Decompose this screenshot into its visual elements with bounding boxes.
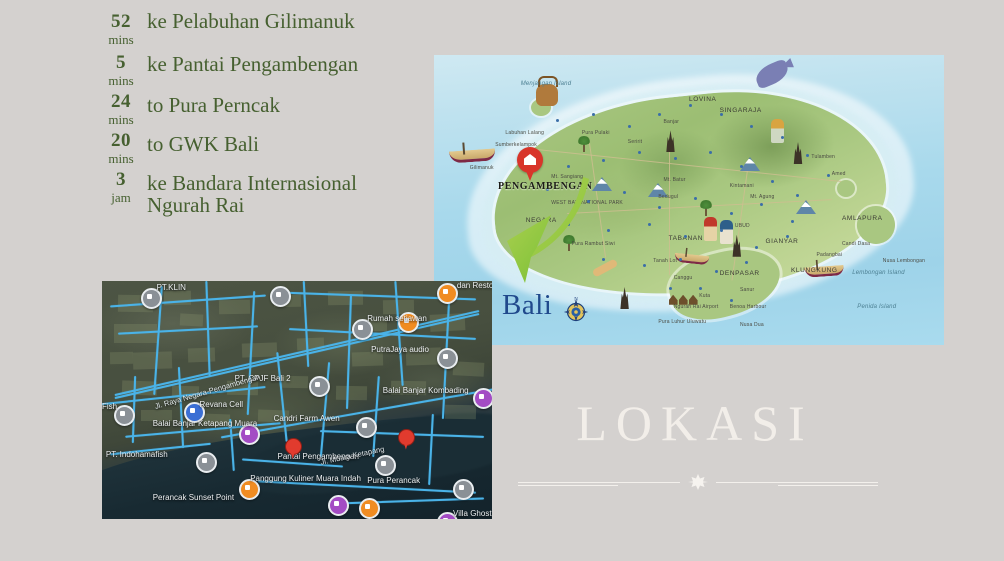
poi-label: Rumah setiawan — [367, 314, 427, 323]
bali-place-label: GIANYAR — [766, 238, 799, 245]
destination-label: to GWK Bali — [147, 130, 259, 155]
map-dot — [745, 261, 748, 264]
poi-label: PutraJaya audio — [371, 345, 429, 354]
duration-unit: mins — [95, 152, 147, 165]
bali-place-label: Seririt — [628, 139, 642, 145]
duration: 5 mins — [95, 50, 147, 87]
village-huts-icon — [669, 293, 699, 305]
bali-place-label: Pura Luhur Uluwatu — [658, 319, 706, 325]
map-dot — [628, 125, 631, 128]
bali-place-label: Bedugul — [658, 194, 678, 200]
list-item: 20 mins to GWK Bali — [95, 130, 425, 165]
bali-place-label: UBUD — [735, 223, 750, 229]
map-dot — [679, 258, 682, 261]
duration-value: 5 — [95, 53, 147, 72]
poi-label: Pura Perancak — [367, 476, 420, 485]
bali-place-label: Tanah Lot — [653, 258, 677, 264]
duration-value: 20 — [95, 131, 147, 150]
map-dot — [715, 270, 718, 273]
poi-label: PT.KLIN — [157, 283, 186, 292]
map-dot — [643, 264, 646, 267]
poi-marker[interactable] — [437, 348, 458, 369]
page-title: LOKASI — [565, 398, 825, 448]
map-dot — [786, 235, 789, 238]
palm-tree-icon — [577, 136, 591, 152]
bali-place-label: Gilimanuk — [470, 165, 494, 171]
bali-place-label: AMLAPURA — [842, 215, 883, 222]
destination-label: ke Pantai Pengambengan — [147, 50, 358, 75]
mountain-icon — [592, 177, 612, 191]
road-line — [669, 142, 670, 275]
bali-place-label: DENPASAR — [720, 270, 760, 277]
map-dot — [730, 299, 733, 302]
red-map-pin[interactable] — [398, 429, 413, 450]
poi-marker[interactable] — [270, 286, 291, 307]
field-parcel — [180, 314, 204, 327]
bali-place-label: Mt. Agung — [750, 194, 774, 200]
compass-rose-icon: N — [561, 295, 591, 325]
map-dot — [638, 151, 641, 154]
mountain-icon — [796, 200, 816, 214]
map-dot — [720, 113, 723, 116]
duration-unit: mins — [95, 33, 147, 46]
balinese-figure-icon — [704, 217, 717, 241]
divider-line-right — [716, 482, 878, 483]
duration-value: 52 — [95, 12, 147, 31]
palm-tree-icon — [699, 200, 713, 216]
bali-place-label: Labuhan Lalang — [505, 130, 544, 136]
duration: 24 mins — [95, 91, 147, 126]
poi-label: PT. Indohamafish — [106, 450, 168, 459]
map-dot — [669, 287, 672, 290]
bali-place-label: Candi Dasa — [842, 241, 870, 247]
title-divider — [518, 473, 878, 491]
satellite-map[interactable]: PT.KLINdan Resto AwRumah setiawanPutraJa… — [102, 281, 492, 519]
map-dot — [730, 212, 733, 215]
poi-label: Revana Cell — [200, 400, 244, 409]
distance-list: 52 mins ke Pelabuhan Gilimanuk 5 mins ke… — [95, 10, 425, 221]
bali-place-label: Menjangan Island — [521, 81, 572, 87]
map-dot — [720, 229, 723, 232]
bali-place-label: Penida Island — [857, 304, 896, 310]
poi-marker[interactable] — [375, 455, 396, 476]
map-dot — [781, 136, 784, 139]
field-parcel — [453, 361, 485, 377]
field-parcel — [219, 300, 250, 315]
mountain-icon — [740, 157, 760, 171]
deer-icon — [536, 84, 558, 106]
field-parcel — [242, 342, 278, 357]
bali-place-label: Padangbai — [817, 252, 843, 258]
duration-unit: mins — [95, 113, 147, 126]
duration: 52 mins — [95, 10, 147, 46]
balinese-figure-icon — [771, 119, 784, 143]
bali-place-label: Lembongan Island — [852, 270, 905, 276]
bali-place-label: LOVINA — [689, 96, 716, 103]
map-dot — [750, 125, 753, 128]
field-parcel — [110, 352, 134, 364]
poi-marker[interactable] — [473, 388, 493, 409]
bali-place-label: Nusa Lembongan — [883, 258, 925, 264]
bali-place-label: Amed — [832, 171, 846, 177]
bali-place-label: Pura Pulaki — [582, 130, 610, 136]
field-parcel — [336, 385, 367, 400]
destination-label: ke Bandara Internasional Ngurah Rai — [147, 169, 425, 217]
poi-marker[interactable] — [196, 452, 217, 473]
slide-canvas: 52 mins ke Pelabuhan Gilimanuk 5 mins ke… — [0, 0, 1004, 561]
poi-marker[interactable] — [309, 376, 330, 397]
bali-place-label: Kintamani — [730, 183, 754, 189]
poi-label: Fish — [102, 402, 117, 411]
list-item: 3 jam ke Bandara Internasional Ngurah Ra… — [95, 169, 425, 217]
field-parcel — [188, 347, 216, 362]
map-dot — [674, 157, 677, 160]
poi-label: Villa Ghost — [453, 509, 492, 518]
poi-label: Balai Banjar Ketapang Muara — [153, 419, 258, 428]
duration-unit: jam — [95, 191, 147, 204]
divider-line-left — [518, 482, 680, 483]
poi-label: Panggung Kuliner Muara Indah — [250, 474, 361, 483]
destination-label: ke Pelabuhan Gilimanuk — [147, 10, 355, 32]
sailboat-icon — [449, 140, 496, 163]
poi-label: dan Resto Aw — [457, 281, 492, 290]
poi-marker[interactable] — [359, 498, 380, 519]
curved-arrow-icon — [455, 175, 595, 290]
duration: 3 jam — [95, 169, 147, 204]
duration: 20 mins — [95, 130, 147, 165]
bali-place-label: KLUNGKUNG — [791, 267, 838, 274]
bali-place-label: Canggu — [674, 275, 693, 281]
poi-label: Candri Farm Awen — [274, 414, 340, 423]
svg-text:N: N — [574, 298, 578, 303]
duration-value: 3 — [95, 170, 147, 189]
poi-label: Balai Banjar Kombading — [383, 386, 469, 395]
duration-unit: mins — [95, 74, 147, 87]
poi-marker[interactable] — [453, 479, 474, 500]
map-dot — [771, 180, 774, 183]
bali-region-label: Bali — [502, 289, 552, 322]
bali-place-label: Tulamben — [811, 154, 835, 160]
destination-label: to Pura Perncak — [147, 91, 280, 116]
bali-place-label: Benoa Harbour — [730, 304, 767, 310]
poi-label: Perancak Sunset Point — [153, 493, 234, 502]
quatrefoil-ornament-icon — [687, 473, 709, 491]
bali-place-label: Nusa Dua — [740, 322, 764, 328]
map-dot — [684, 235, 687, 238]
list-item: 5 mins ke Pantai Pengambengan — [95, 50, 425, 87]
balinese-figure-icon — [720, 220, 733, 244]
bali-place-label: Kuta — [699, 293, 710, 299]
field-parcel — [133, 352, 173, 370]
poi-marker[interactable] — [356, 417, 377, 438]
bali-place-label: Ngurah Rai Airport — [674, 304, 719, 310]
red-map-pin[interactable] — [285, 438, 300, 459]
bali-place-label: Banjar — [664, 119, 680, 125]
duration-value: 24 — [95, 92, 147, 111]
map-dot — [827, 174, 830, 177]
map-dot — [567, 165, 570, 168]
list-item: 24 mins to Pura Perncak — [95, 91, 425, 126]
map-dot — [806, 154, 809, 157]
field-parcel — [445, 404, 476, 419]
bali-place-label: Mt. Batur — [664, 177, 686, 183]
list-item: 52 mins ke Pelabuhan Gilimanuk — [95, 10, 425, 46]
bali-place-label: SINGARAJA — [720, 107, 762, 114]
bali-place-label: Sanur — [740, 287, 754, 293]
